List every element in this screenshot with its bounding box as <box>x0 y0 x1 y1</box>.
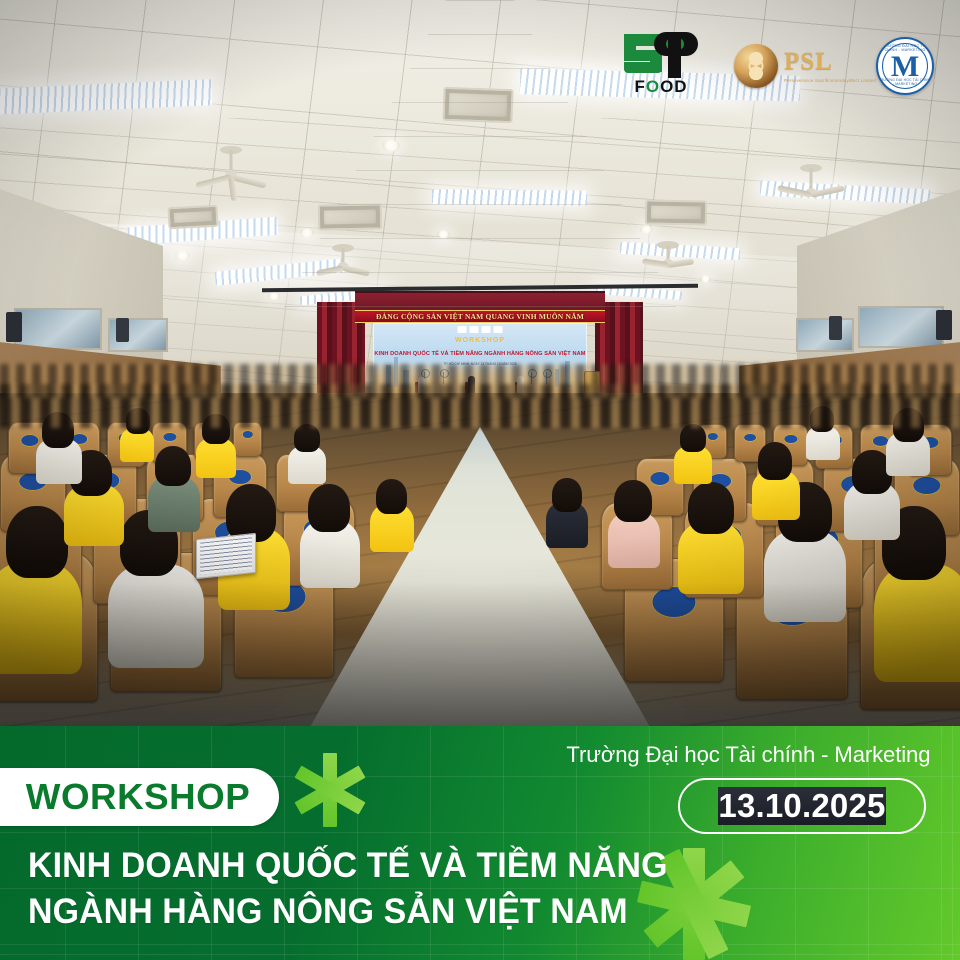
ac-ceiling-vent <box>645 199 707 225</box>
seat-number-tag <box>912 476 941 496</box>
student-head <box>688 482 734 534</box>
seat-number-tag <box>162 432 177 442</box>
partner-logo-strip: FOOD PSL Perseverance Sacrificemindeydte… <box>600 20 960 112</box>
event-date-badge: 13.10.2025 <box>678 778 926 834</box>
student <box>0 562 82 674</box>
ceiling-downlight <box>700 275 711 283</box>
window-right <box>796 318 854 352</box>
seat-number-tag <box>783 434 798 444</box>
sp-food-logo: FOOD <box>618 30 704 102</box>
ceiling-downlight <box>300 228 314 238</box>
seat-number-tag <box>649 471 670 486</box>
fan-rod <box>667 245 670 260</box>
poster-root: ĐẢNG CỘNG SẢN VIỆT NAM QUANG VINH MUÔN N… <box>0 0 960 960</box>
student-head <box>758 442 792 480</box>
sp-s-bottom <box>624 62 662 73</box>
ceiling-fan <box>776 168 846 224</box>
student-head <box>294 424 320 452</box>
ufm-seal-ring: TRƯỜNG ĐẠI HỌC TÀI CHÍNH - MARKETING M T… <box>876 37 934 95</box>
student <box>874 564 960 682</box>
ceiling-fan <box>196 150 266 210</box>
psl-emblem-icon <box>734 44 778 88</box>
student <box>764 530 846 622</box>
seat-number-tag <box>743 433 757 442</box>
fan-blade <box>810 185 845 198</box>
far-crowd <box>0 364 960 398</box>
sp-food-wordmark: FOOD <box>618 77 704 97</box>
fan-rod <box>810 168 813 190</box>
student-head <box>6 506 68 578</box>
psl-text-block: PSL Perseverance Sacrificemindeydtect Li… <box>784 49 876 83</box>
sp-food-letter-o: O <box>646 77 660 96</box>
sp-food-monogram <box>618 30 704 78</box>
student <box>196 438 236 478</box>
fan-rod <box>230 150 233 172</box>
student-head <box>376 479 407 514</box>
fan-blade <box>195 174 231 189</box>
psl-logo: PSL Perseverance Sacrificemindeydtect Li… <box>734 34 846 98</box>
ufm-logo: TRƯỜNG ĐẠI HỌC TÀI CHÍNH - MARKETING M T… <box>876 37 934 95</box>
fan-blade <box>230 174 266 189</box>
wall-speaker-left <box>6 312 22 342</box>
workshop-badge: WORKSHOP <box>0 768 279 826</box>
student <box>108 564 204 668</box>
sp-food-letters-od: OD <box>660 77 688 96</box>
student-head <box>155 446 191 486</box>
wall-speaker-right-2 <box>829 316 842 340</box>
student-head <box>680 424 706 452</box>
window-left <box>14 308 102 350</box>
event-title-line-2: NGÀNH HÀNG NÔNG SẢN VIỆT NAM <box>28 888 639 934</box>
organization-name: Trường Đại học Tài chính - Marketing <box>566 742 930 768</box>
psl-wordmark: PSL <box>784 49 876 74</box>
seat-number-tag <box>20 434 39 447</box>
fan-blade <box>777 185 812 198</box>
ufm-arc-bottom-text: TRƯỜNG ĐẠI HỌC TÀI CHÍNH - MARKETING <box>878 78 932 87</box>
ceiling-downlight <box>175 250 190 261</box>
workshop-badge-label: WORKSHOP <box>25 776 249 818</box>
student-head <box>308 484 350 532</box>
seat-number-tag <box>241 430 253 439</box>
event-date-label: 13.10.2025 <box>718 787 885 825</box>
sp-p-stem <box>668 32 681 78</box>
ceiling-downlight <box>268 292 280 300</box>
screen-heading: WORKSHOP <box>455 337 505 344</box>
ceiling-downlight <box>640 225 653 234</box>
psl-subtitle: Perseverance Sacrificemindeydtect Limite… <box>784 78 876 83</box>
event-title-line-1: KINH DOANH QUỐC TẾ VÀ TIỀM NĂNG <box>28 842 639 888</box>
sp-food-letter-f: F <box>634 77 645 96</box>
window-right <box>858 306 944 348</box>
wall-speaker-right <box>936 310 952 340</box>
wall-speaker-left-2 <box>116 318 129 342</box>
event-title: KINH DOANH QUỐC TẾ VÀ TIỀM NĂNG NGÀNH HÀ… <box>28 842 668 934</box>
screen-title: KINH DOANH QUỐC TẾ VÀ TIỀM NĂNG NGÀNH HÀ… <box>374 351 585 357</box>
student-head <box>552 478 582 512</box>
student-laptop <box>196 533 256 579</box>
student-head <box>614 480 652 522</box>
seat-number-tag <box>706 432 718 441</box>
